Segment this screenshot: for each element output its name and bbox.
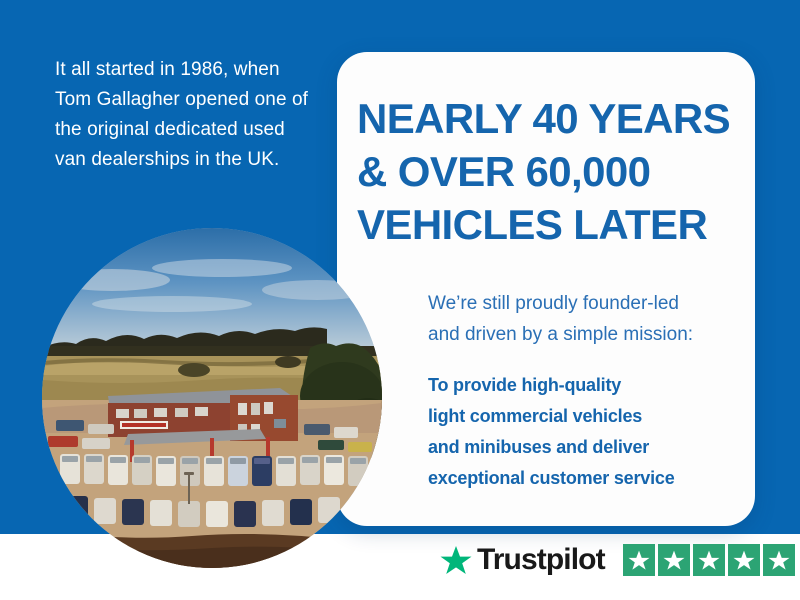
- star-icon: [698, 550, 720, 571]
- star-tile[interactable]: [693, 544, 725, 576]
- star-tile[interactable]: [658, 544, 690, 576]
- star-tile[interactable]: [728, 544, 760, 576]
- headline: NEARLY 40 YEARS & OVER 60,000 VEHICLES L…: [357, 92, 747, 251]
- mission-line: exceptional customer service: [428, 463, 728, 494]
- dealership-photo: [42, 228, 382, 568]
- star-icon: [628, 550, 650, 571]
- trustpilot-star-icon: [440, 545, 472, 576]
- mission-line: To provide high-quality: [428, 370, 728, 401]
- mission-line: and minibuses and deliver: [428, 432, 728, 463]
- subheading-line: We’re still proudly founder-led: [428, 288, 728, 319]
- headline-line: NEARLY 40 YEARS: [357, 92, 747, 145]
- subheading-line: and driven by a simple mission:: [428, 319, 728, 350]
- headline-line: VEHICLES LATER: [357, 198, 747, 251]
- star-icon: [663, 550, 685, 571]
- trustpilot-wordmark: Trustpilot: [477, 545, 605, 575]
- trustpilot-rating[interactable]: Trustpilot: [440, 541, 795, 579]
- dealership-photo-image: [42, 228, 382, 568]
- intro-line: dealerships in the UK.: [91, 149, 279, 170]
- subheading-paragraph: We’re still proudly founder-led and driv…: [428, 288, 728, 350]
- star-icon: [768, 550, 790, 571]
- headline-line: & OVER 60,000: [357, 145, 747, 198]
- mission-statement: To provide high-quality light commercial…: [428, 370, 728, 494]
- marketing-banner: It all started in 1986, when Tom Gallagh…: [0, 0, 800, 600]
- star-icon: [733, 550, 755, 571]
- intro-paragraph: It all started in 1986, when Tom Gallagh…: [55, 55, 317, 175]
- trustpilot-star-tiles[interactable]: [623, 544, 795, 576]
- star-tile[interactable]: [763, 544, 795, 576]
- star-tile[interactable]: [623, 544, 655, 576]
- trustpilot-logo[interactable]: Trustpilot: [440, 545, 605, 576]
- mission-line: light commercial vehicles: [428, 401, 728, 432]
- intro-line: It all started in 1986,: [55, 59, 228, 80]
